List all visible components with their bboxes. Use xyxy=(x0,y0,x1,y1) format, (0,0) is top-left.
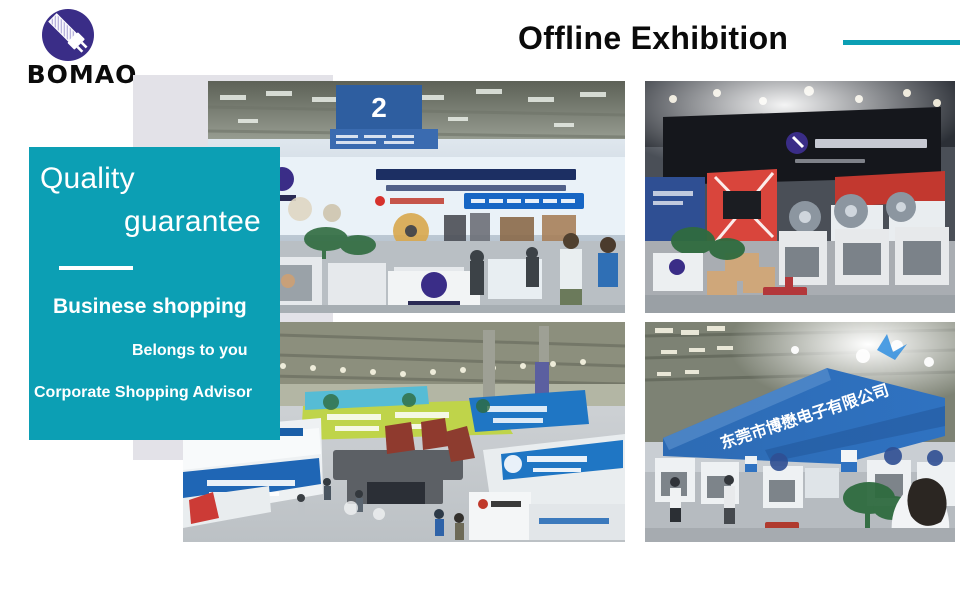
cable-plug-circle-icon xyxy=(40,8,96,64)
gallery-photo-bottom-right: 东莞市博懋电子有限公司 端壳站帽机 xyxy=(645,322,955,542)
brand-wordmark: BOMAO xyxy=(22,62,142,87)
page-title: Offline Exhibition xyxy=(518,20,788,57)
brand-logo: BOMAO xyxy=(22,6,142,86)
gallery-photo-top-right xyxy=(645,81,955,313)
promo-headline-2: guarantee xyxy=(124,205,261,239)
promo-subhead: Businese shopping xyxy=(53,295,247,319)
promo-panel: Quality guarantee Businese shopping Belo… xyxy=(29,147,280,440)
slide-root: BOMAO Offline Exhibition xyxy=(0,0,960,596)
promo-divider xyxy=(59,266,133,270)
promo-headline-1: Quality xyxy=(40,162,135,196)
title-accent-rule xyxy=(843,40,960,45)
promo-footer-text: Corporate Shopping Advisor xyxy=(34,384,252,402)
svg-text:2: 2 xyxy=(371,92,387,123)
promo-tagline: Belongs to you xyxy=(132,342,248,360)
